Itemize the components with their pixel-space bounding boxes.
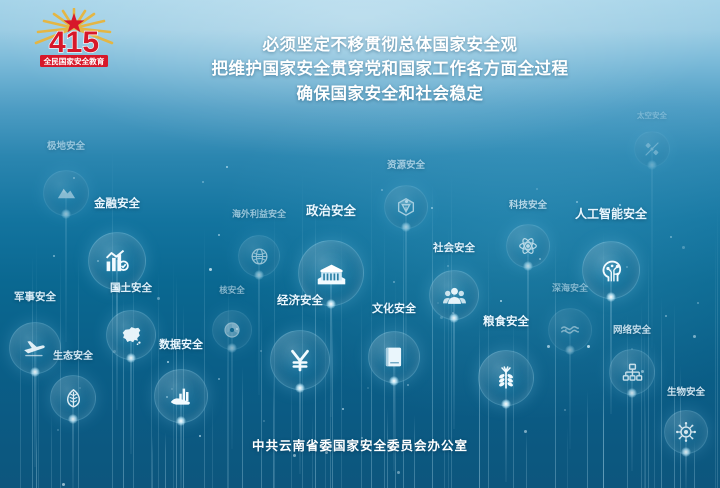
node-label: 军事安全: [14, 289, 56, 304]
node-label: 深海安全: [552, 281, 588, 294]
node-label: 数据安全: [159, 336, 203, 352]
node-bubble[interactable]: [506, 224, 550, 268]
light-strand: [644, 322, 645, 488]
node-bubble[interactable]: [582, 241, 640, 299]
light-particle: [342, 408, 344, 410]
node-label: 粮食安全: [483, 313, 529, 329]
light-strand: [228, 273, 229, 488]
light-particle: [202, 181, 204, 183]
atom-icon: [517, 235, 539, 257]
light-particle: [524, 430, 527, 433]
leaf-icon: [62, 387, 85, 410]
light-particle: [218, 234, 220, 236]
light-particle: [263, 420, 265, 422]
node-bubble[interactable]: [270, 330, 330, 390]
light-particle: [53, 255, 55, 257]
light-particle: [218, 378, 220, 380]
light-particle: [682, 246, 685, 249]
light-particle: [293, 454, 296, 457]
node-label: 网络安全: [613, 322, 651, 336]
light-strand: [38, 361, 39, 488]
light-particle: [260, 350, 262, 352]
light-particle: [62, 483, 65, 486]
node-label: 核安全: [219, 284, 245, 296]
gem-icon: [395, 196, 417, 218]
node-label: 生物安全: [667, 384, 705, 398]
light-particle: [697, 302, 699, 304]
node-label: 人工智能安全: [575, 205, 647, 222]
light-particle: [536, 188, 538, 190]
headline-line-2: 把维护国家安全贯穿党和国家工作各方面全过程: [150, 57, 630, 81]
node-label: 政治安全: [306, 200, 356, 219]
headline-line-3: 确保国家安全和社会稳定: [150, 82, 630, 106]
node-bubble[interactable]: [154, 369, 208, 423]
light-strand: [654, 341, 655, 488]
light-particle: [547, 345, 550, 348]
node-stem: [652, 148, 653, 348]
node-label: 经济安全: [277, 292, 323, 308]
light-particle: [407, 384, 409, 386]
light-strand: [273, 371, 274, 488]
nuclear-icon: [222, 320, 242, 340]
light-particle: [397, 471, 400, 474]
node-bubble[interactable]: [106, 310, 156, 360]
light-particle: [381, 189, 383, 191]
headline-line-1: 必须坚定不移贯彻总体国家安全观: [150, 33, 630, 57]
poster-canvas: 415 全民国家安全教育 必须坚定不移贯彻总体国家安全观 把维护国家安全贯穿党和…: [0, 0, 720, 488]
light-particle: [670, 236, 672, 238]
node-label: 社会安全: [433, 240, 475, 255]
light-strand: [242, 367, 243, 488]
node-bubble[interactable]: [368, 331, 420, 383]
light-particle: [226, 166, 228, 168]
node-label: 海外利益安全: [232, 207, 286, 220]
node-bubble[interactable]: [212, 310, 252, 350]
node-bubble[interactable]: [634, 131, 670, 167]
light-strand: [332, 311, 333, 488]
light-particle: [576, 201, 578, 203]
light-strand: [661, 297, 662, 488]
light-strand: [479, 330, 480, 488]
node-label: 科技安全: [509, 197, 547, 211]
deep-sea-icon: [559, 319, 581, 341]
logo-number: 415: [49, 26, 99, 59]
light-strand: [627, 315, 628, 488]
light-particle: [167, 361, 169, 363]
bar-chart-icon: [103, 247, 132, 276]
node-label: 金融安全: [94, 195, 140, 211]
light-particle: [209, 268, 212, 271]
node-label: 太空安全: [637, 110, 667, 121]
government-icon: [315, 257, 348, 290]
node-label: 文化安全: [372, 300, 416, 316]
node-bubble[interactable]: [609, 349, 655, 395]
hand-data-icon: [168, 383, 195, 410]
mountain-icon: [55, 182, 78, 205]
light-strand: [479, 313, 480, 488]
light-particle: [665, 315, 667, 317]
light-strand: [325, 286, 326, 488]
light-strand: [291, 376, 292, 488]
light-strand: [151, 327, 152, 488]
node-bubble[interactable]: [548, 308, 592, 352]
node-bubble[interactable]: [429, 270, 479, 320]
issuer-footer: 中共云南省委国家安全委员会办公室: [0, 435, 720, 454]
book-icon: [381, 344, 407, 370]
light-particle: [447, 265, 449, 267]
light-particle: [693, 335, 696, 338]
node-bubble[interactable]: [238, 235, 280, 277]
node-bubble[interactable]: [50, 375, 96, 421]
light-particle: [500, 300, 502, 302]
light-strand: [361, 301, 362, 488]
yen-icon: [285, 345, 315, 375]
logo-banner-text: 全民国家安全教育: [43, 56, 105, 66]
node-label: 生态安全: [53, 347, 93, 362]
node-bubble[interactable]: [384, 185, 428, 229]
node-label: 国土安全: [110, 280, 152, 295]
light-particle: [367, 387, 369, 389]
wheat-icon: [492, 364, 520, 392]
ai-head-icon: [597, 256, 626, 285]
node-bubble[interactable]: [43, 170, 89, 216]
airplane-icon: [22, 335, 48, 361]
network-icon: [621, 361, 644, 384]
people-icon: [442, 283, 467, 308]
light-particle: [587, 345, 590, 348]
light-particle: [393, 281, 395, 283]
node-bubble[interactable]: [478, 350, 534, 406]
satellite-icon: [643, 140, 661, 158]
light-particle: [157, 297, 160, 300]
node-label: 极地安全: [47, 138, 85, 152]
national-security-education-logo: 415 全民国家安全教育: [18, 8, 130, 70]
china-map-icon: [119, 323, 144, 348]
light-strand: [261, 311, 262, 488]
light-particle: [564, 409, 566, 411]
globe-icon: [249, 246, 270, 267]
node-label: 资源安全: [387, 157, 425, 171]
light-particle: [431, 207, 433, 209]
light-particle: [57, 429, 59, 431]
headline-block: 必须坚定不移贯彻总体国家安全观 把维护国家安全贯穿党和国家工作各方面全过程 确保…: [150, 33, 630, 106]
